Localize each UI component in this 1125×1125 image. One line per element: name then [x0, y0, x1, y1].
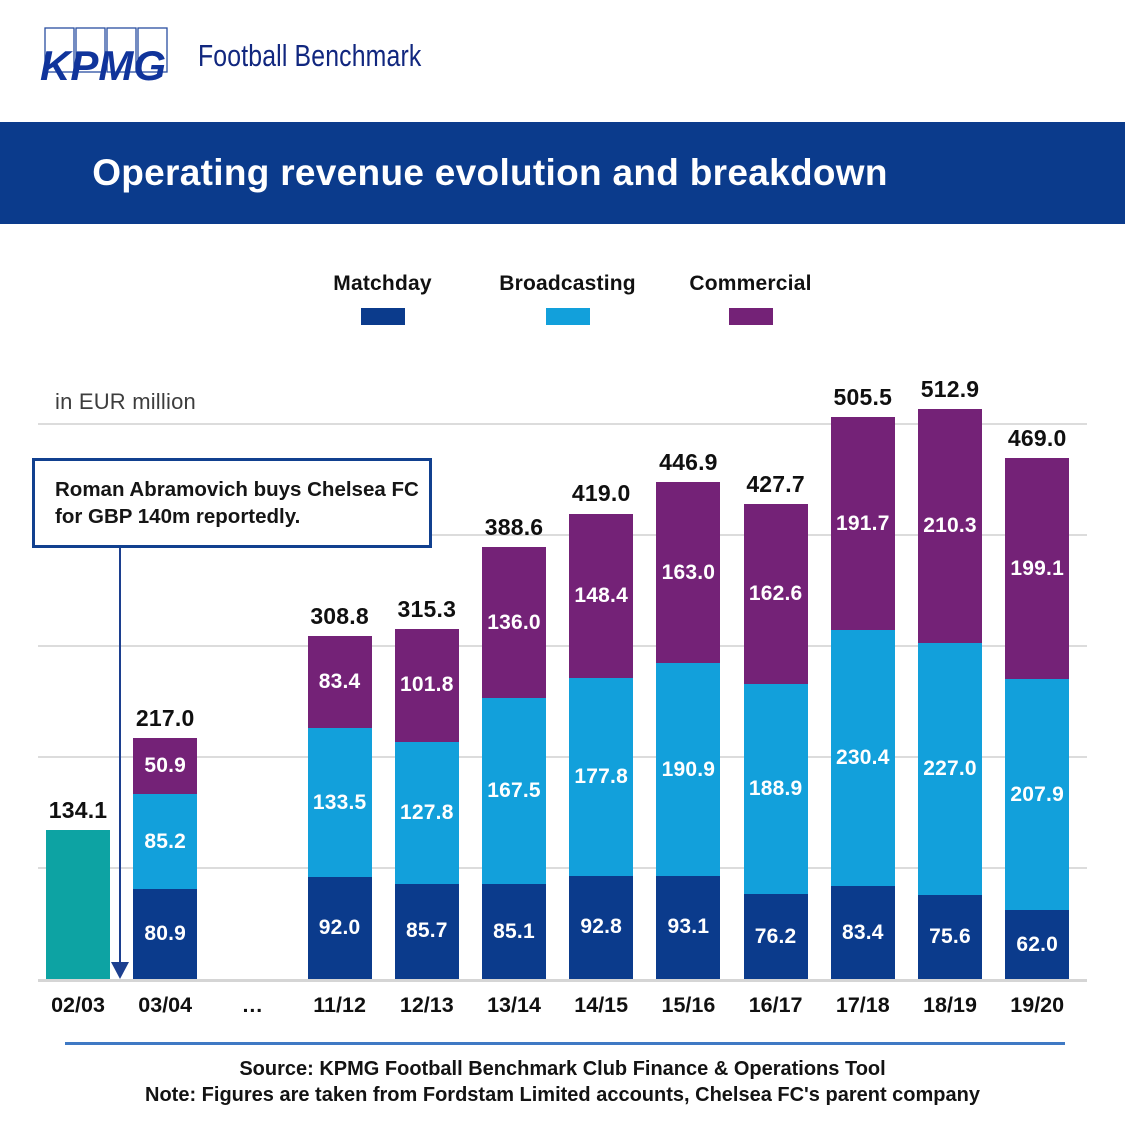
bar-segment-value: 85.2	[144, 830, 186, 854]
bar-segment-broadcasting: 207.9	[1005, 679, 1069, 910]
x-axis-label-14-15: 14/15	[569, 993, 633, 1018]
bar-segment-value: 167.5	[487, 779, 541, 803]
bar-13-14[interactable]: 85.1167.5136.0	[482, 547, 546, 979]
bar-16-17[interactable]: 76.2188.9162.6	[744, 504, 808, 979]
bar-segment-value: 227.0	[923, 757, 977, 781]
bar-segment-broadcasting: 230.4	[831, 630, 895, 886]
bar-segment-commercial: 50.9	[133, 738, 197, 795]
bar-total-label: 388.6	[474, 514, 554, 541]
bar-segment-matchday: 92.8	[569, 876, 633, 979]
bar-12-13[interactable]: 85.7127.8101.8	[395, 629, 459, 979]
bar-15-16[interactable]: 93.1190.9163.0	[656, 482, 720, 979]
bar-segment-commercial: 101.8	[395, 629, 459, 742]
bar-segment-commercial: 163.0	[656, 482, 720, 663]
bar-segment-value: 62.0	[1016, 933, 1058, 957]
bar-segment-commercial: 162.6	[744, 504, 808, 685]
bar-segment-value: 83.4	[842, 921, 884, 945]
bar-segment-commercial: 191.7	[831, 417, 895, 630]
bar-total-label: 505.5	[823, 384, 903, 411]
bar-segment-value: 92.0	[319, 916, 361, 940]
bar-segment-value: 207.9	[1010, 783, 1064, 807]
bar-segment-matchday: 75.6	[918, 895, 982, 979]
bar-segment-value: 85.7	[406, 919, 448, 943]
bar-segment-matchday: 76.2	[744, 894, 808, 979]
bar-segment-commercial: 210.3	[918, 409, 982, 643]
bar-segment-value: 80.9	[144, 922, 186, 946]
bar-segment-commercial: 136.0	[482, 547, 546, 698]
bar-segment-value: 136.0	[487, 611, 541, 635]
bar-total-label: 315.3	[387, 596, 467, 623]
bar-segment-broadcasting: 188.9	[744, 684, 808, 894]
x-axis-label-02-03: 02/03	[46, 993, 110, 1018]
bar-03-04[interactable]: 80.985.250.9	[133, 738, 197, 979]
bar-segment-value: 85.1	[493, 920, 535, 944]
bar-segment-total	[46, 830, 110, 979]
bar-total-label: 217.0	[125, 705, 205, 732]
bar-segment-matchday: 93.1	[656, 876, 720, 979]
bar-18-19[interactable]: 75.6227.0210.3	[918, 409, 982, 979]
footer-divider	[65, 1042, 1065, 1045]
bar-segment-value: 190.9	[662, 758, 716, 782]
bar-segment-value: 230.4	[836, 746, 890, 770]
bar-segment-value: 210.3	[923, 514, 977, 538]
bar-11-12[interactable]: 92.0133.583.4	[308, 636, 372, 979]
bar-segment-matchday: 83.4	[831, 886, 895, 979]
annotation-callout[interactable]: Roman Abramovich buys Chelsea FC for GBP…	[32, 458, 432, 548]
bar-segment-broadcasting: 127.8	[395, 742, 459, 884]
x-axis-label-gap: …	[220, 993, 284, 1018]
axis-unit-label: in EUR million	[55, 389, 196, 415]
x-axis-label-18-19: 18/19	[918, 993, 982, 1018]
x-axis-label-03-04: 03/04	[133, 993, 197, 1018]
x-axis-label-11-12: 11/12	[308, 993, 372, 1018]
annotation-text: Roman Abramovich buys Chelsea FC for GBP…	[35, 476, 419, 530]
bar-total-label: 308.8	[300, 603, 380, 630]
bar-total-label: 469.0	[997, 425, 1077, 452]
footer-source: Source: KPMG Football Benchmark Club Fin…	[0, 1057, 1125, 1083]
bar-total-label: 427.7	[736, 471, 816, 498]
bar-17-18[interactable]: 83.4230.4191.7	[831, 417, 895, 979]
bar-segment-value: 148.4	[574, 584, 628, 608]
bar-total-label: 446.9	[648, 449, 728, 476]
bar-segment-value: 101.8	[400, 673, 454, 697]
bar-segment-commercial: 199.1	[1005, 458, 1069, 679]
bar-segment-broadcasting: 133.5	[308, 728, 372, 876]
footer-note: Note: Figures are taken from Fordstam Li…	[0, 1083, 1125, 1109]
axis-baseline	[38, 979, 1087, 982]
bar-segment-value: 92.8	[580, 915, 622, 939]
bar-segment-value: 191.7	[836, 512, 890, 536]
bar-02-03[interactable]	[46, 830, 110, 979]
bar-segment-matchday: 62.0	[1005, 910, 1069, 979]
bar-segment-commercial: 83.4	[308, 636, 372, 729]
x-axis-label-16-17: 16/17	[744, 993, 808, 1018]
bar-segment-matchday: 80.9	[133, 889, 197, 979]
annotation-leader-line	[119, 548, 121, 968]
bar-segment-broadcasting: 177.8	[569, 678, 633, 876]
annotation-line-1: Roman Abramovich buys Chelsea FC	[55, 476, 419, 503]
bar-segment-value: 163.0	[662, 561, 716, 585]
bar-segment-value: 177.8	[574, 765, 628, 789]
bar-segment-value: 50.9	[144, 754, 186, 778]
annotation-line-2: for GBP 140m reportedly.	[55, 503, 419, 530]
bar-segment-value: 75.6	[929, 925, 971, 949]
bar-segment-value: 199.1	[1010, 557, 1064, 581]
bar-segment-value: 83.4	[319, 670, 361, 694]
bar-19-20[interactable]: 62.0207.9199.1	[1005, 458, 1069, 979]
bar-segment-matchday: 92.0	[308, 877, 372, 979]
annotation-arrow-icon	[111, 962, 129, 979]
footer-notes: Source: KPMG Football Benchmark Club Fin…	[0, 1057, 1125, 1108]
bar-segment-value: 76.2	[755, 925, 797, 949]
bar-segment-broadcasting: 190.9	[656, 663, 720, 875]
bar-total-label: 512.9	[910, 376, 990, 403]
bar-segment-value: 162.6	[749, 582, 803, 606]
bar-segment-value: 133.5	[313, 791, 367, 815]
x-axis-label-12-13: 12/13	[395, 993, 459, 1018]
bar-segment-matchday: 85.7	[395, 884, 459, 979]
x-axis-label-19-20: 19/20	[1005, 993, 1069, 1018]
bar-segment-commercial: 148.4	[569, 514, 633, 679]
bar-segment-broadcasting: 227.0	[918, 643, 982, 895]
x-axis-label-15-16: 15/16	[656, 993, 720, 1018]
x-axis-label-13-14: 13/14	[482, 993, 546, 1018]
bar-segment-matchday: 85.1	[482, 884, 546, 979]
bar-total-label: 134.1	[38, 797, 118, 824]
bar-segment-broadcasting: 85.2	[133, 794, 197, 889]
bar-14-15[interactable]: 92.8177.8148.4	[569, 513, 633, 979]
chart-plot-area: in EUR million 02/03134.103/04217.080.98…	[0, 0, 1125, 1125]
bar-segment-value: 188.9	[749, 777, 803, 801]
bar-segment-broadcasting: 167.5	[482, 698, 546, 884]
x-axis-label-17-18: 17/18	[831, 993, 895, 1018]
bar-segment-value: 127.8	[400, 801, 454, 825]
bar-total-label: 419.0	[561, 480, 641, 507]
bar-segment-value: 93.1	[668, 915, 710, 939]
